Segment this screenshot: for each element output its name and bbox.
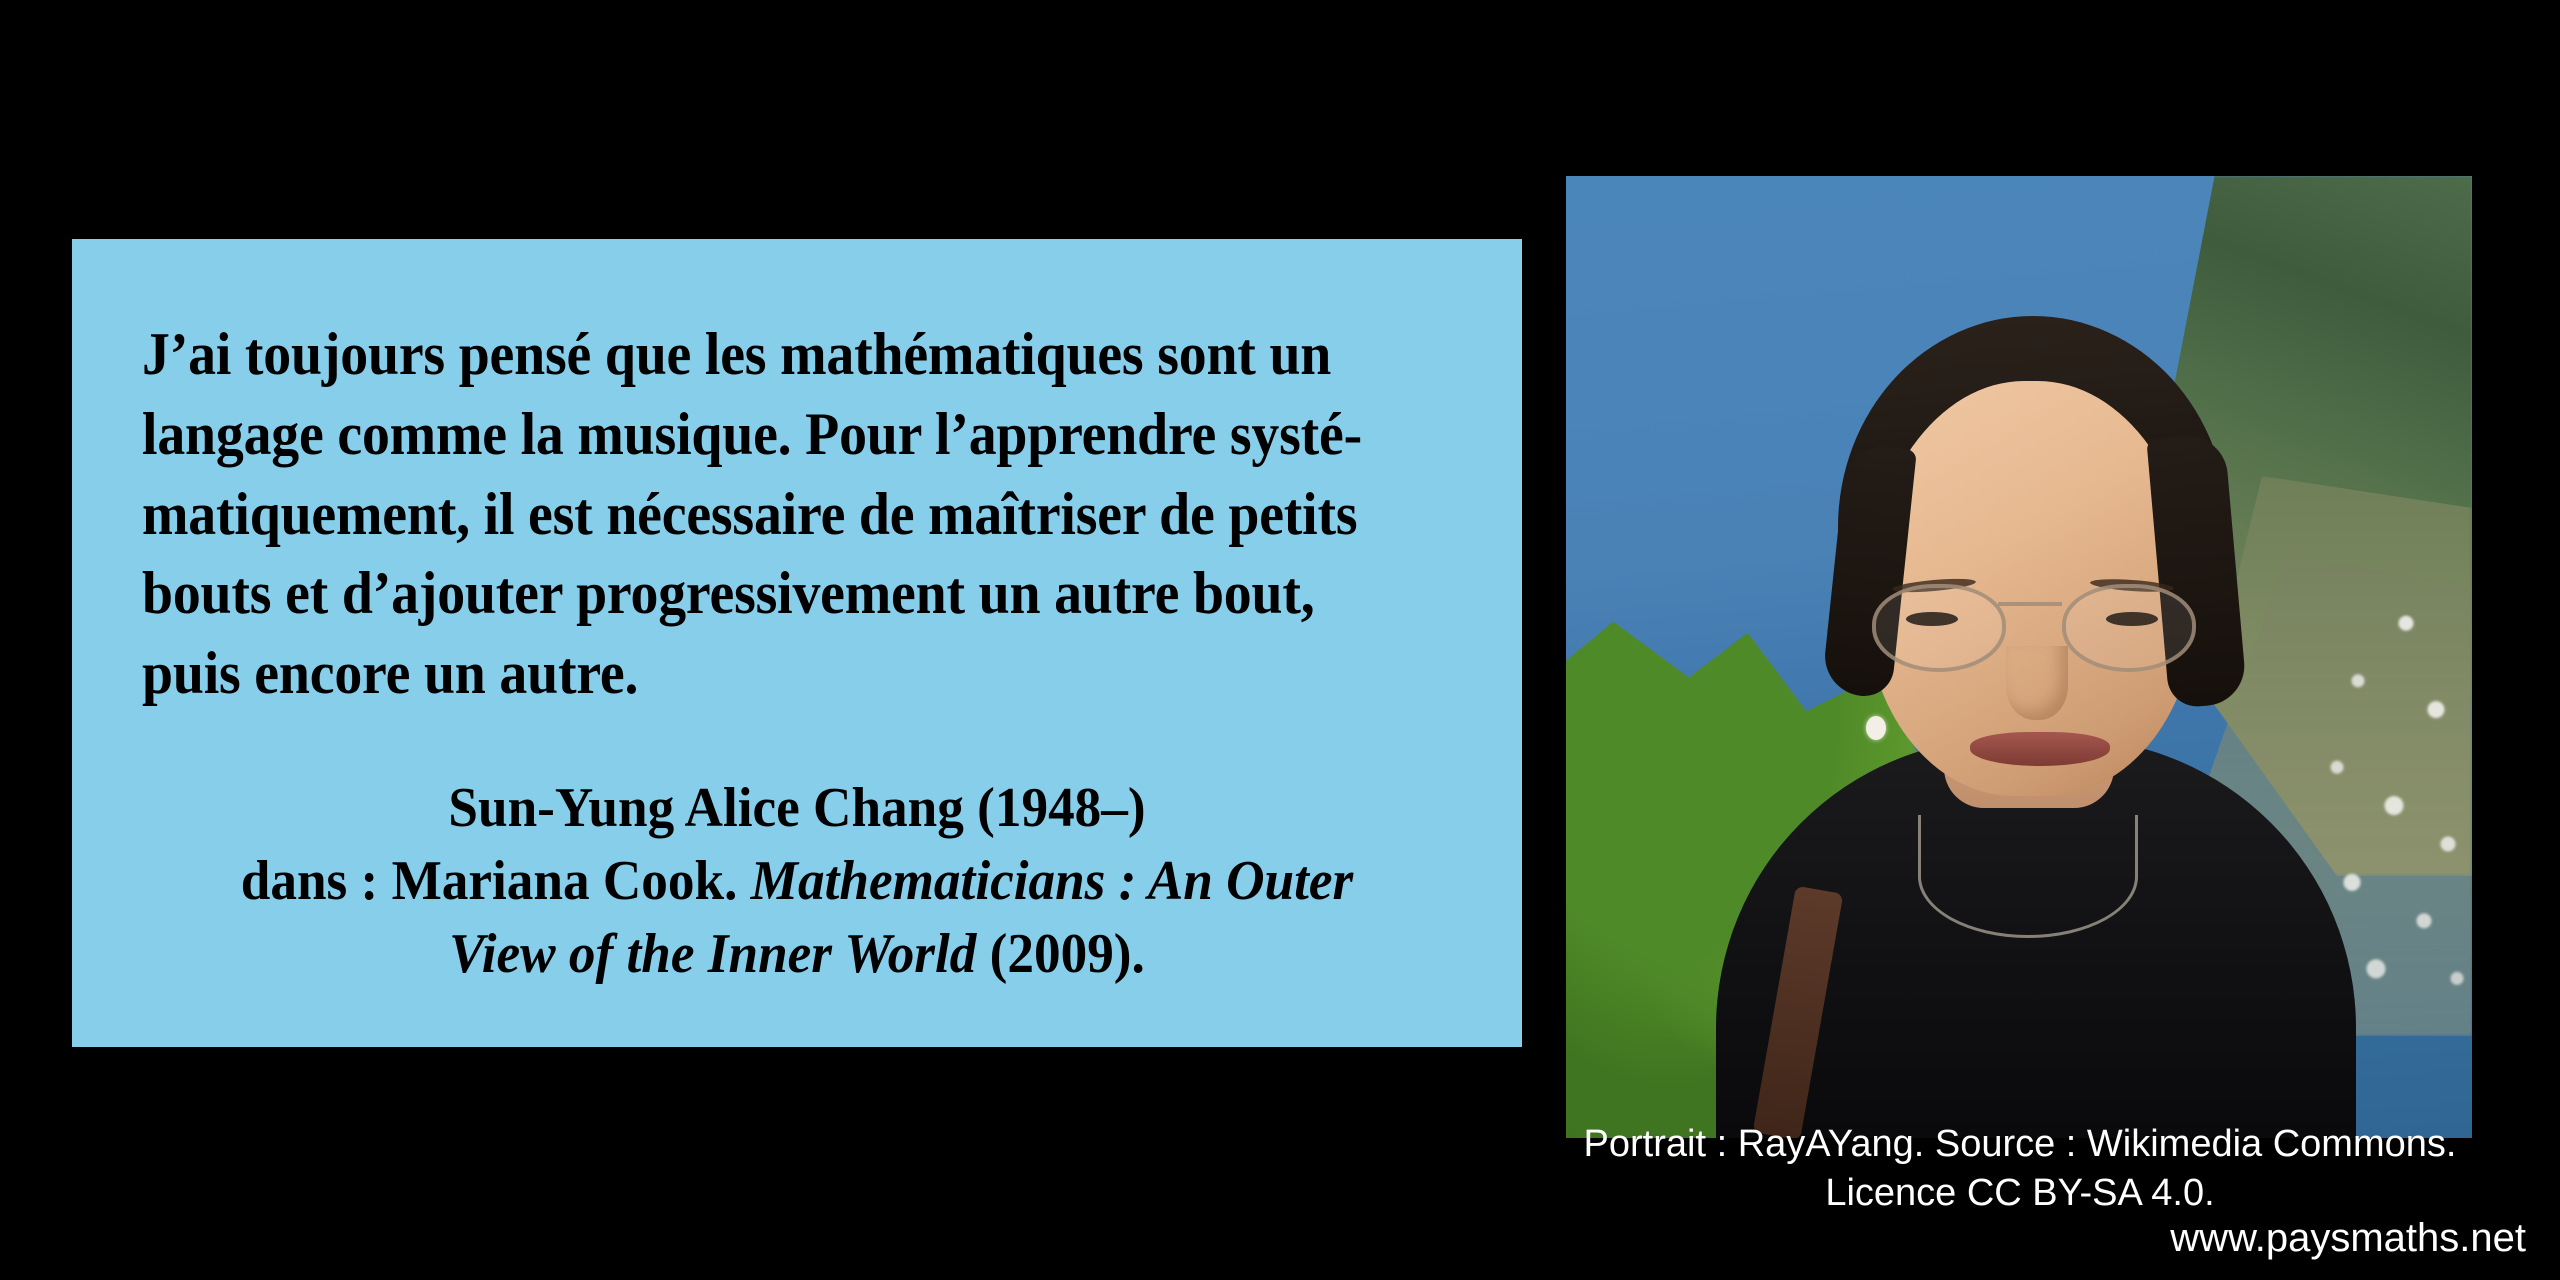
photo-necklace — [1918, 815, 2138, 938]
attribution-book-title-part1: Mathematicians : An Outer — [751, 850, 1354, 912]
photo-credit-line-1: Portrait : RayAYang. Source : Wikimedia … — [1540, 1120, 2500, 1169]
quote-line: matiquement, il est nécessaire de maîtri… — [142, 475, 1449, 555]
quote-line: bouts et d’ajouter progressivement un au… — [142, 554, 1449, 634]
quote-panel: J’ai toujours pensé que les mathématique… — [72, 239, 1522, 1047]
attribution-author: Sun-Yung Alice Chang (1948–) — [175, 772, 1420, 845]
attribution-source-line-1: dans : Mariana Cook. Mathematicians : An… — [175, 845, 1420, 918]
attribution-book-title-part2: View of the Inner World — [449, 923, 976, 985]
photo-glasses-bridge — [1998, 602, 2062, 606]
photo-earring — [1866, 716, 1886, 740]
slide-root: J’ai toujours pensé que les mathématique… — [0, 0, 2560, 1280]
photo-lens-left — [1872, 584, 2006, 672]
photo-mouth — [1970, 732, 2110, 766]
attribution-source-suffix: (2009). — [976, 923, 1144, 985]
photo-credit-caption: Portrait : RayAYang. Source : Wikimedia … — [1540, 1120, 2500, 1217]
photo-nose — [2006, 646, 2068, 720]
portrait-photo — [1566, 176, 2472, 1138]
quote-line: J’ai toujours pensé que les mathématique… — [142, 315, 1449, 395]
site-url[interactable]: www.paysmaths.net — [2170, 1216, 2526, 1261]
quote-text: J’ai toujours pensé que les mathématique… — [142, 315, 1449, 714]
photo-lens-right — [2062, 584, 2196, 672]
attribution-source-prefix: dans : Mariana Cook. — [241, 850, 751, 912]
quote-line: puis encore un autre. — [142, 634, 1449, 714]
photo-credit-line-2: Licence CC BY-SA 4.0. — [1540, 1169, 2500, 1218]
attribution-source-line-2: View of the Inner World (2009). — [175, 918, 1420, 991]
portrait-photo-content — [1566, 176, 2472, 1138]
attribution-block: Sun-Yung Alice Chang (1948–) dans : Mari… — [175, 772, 1420, 990]
quote-line: langage comme la musique. Pour l’apprend… — [142, 395, 1449, 475]
